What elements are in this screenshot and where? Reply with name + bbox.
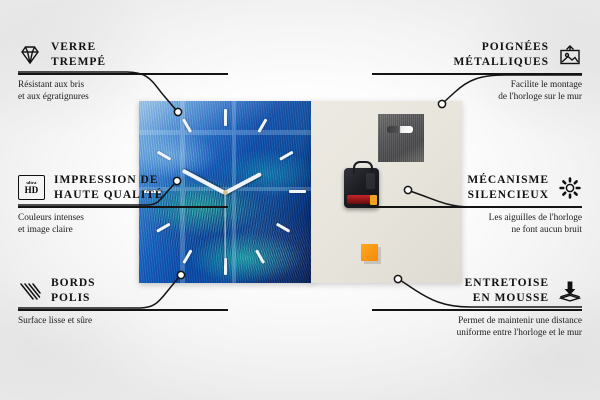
callout-desc: Surface lisse et sûre — [18, 315, 228, 327]
gear-icon — [558, 176, 582, 200]
callout-rule — [372, 73, 582, 74]
callout-desc: Permet de maintenir une distance uniform… — [372, 315, 582, 340]
hanging-loop — [353, 161, 373, 173]
callout-desc: Les aiguilles de l'horloge ne font aucun… — [372, 212, 582, 237]
callout-desc: Résistant aux bris et aux égratignures — [18, 79, 228, 104]
callout-bords-polis: BORDS POLIS Surface lisse et sûre — [18, 276, 228, 327]
callout-rule — [372, 309, 582, 310]
polished-edges-icon — [18, 279, 42, 303]
callout-rule — [372, 206, 582, 207]
diamond-icon — [18, 43, 42, 67]
callout-poignees-metalliques: POIGNÉES MÉTALLIQUES Facilite le montage… — [372, 40, 582, 104]
infographic-canvas: VERRE TREMPÉ Résistant aux bris et aux é… — [0, 0, 600, 400]
callout-desc: Facilite le montage de l'horloge sur le … — [372, 79, 582, 104]
hanger-slot — [387, 126, 413, 133]
foam-spacer-icon — [558, 279, 582, 303]
callout-title: ENTRETOISE EN MOUSSE — [465, 276, 549, 305]
callout-title: BORDS POLIS — [51, 276, 96, 305]
callout-desc: Couleurs intenses et image claire — [18, 212, 228, 237]
wall-hanger-icon — [558, 43, 582, 67]
ultra-hd-icon: ultra HD — [18, 175, 45, 200]
callout-title: MÉCANISME SILENCIEUX — [467, 173, 549, 202]
callout-rule — [18, 73, 228, 74]
callout-rule — [18, 309, 228, 310]
callout-mecanisme-silencieux: MÉCANISME SILENCIEUX Les aiguilles de l'… — [372, 173, 582, 237]
callout-entretoise-en-mousse: ENTRETOISE EN MOUSSE Permet de maintenir… — [372, 276, 582, 340]
callout-title: VERRE TREMPÉ — [51, 40, 106, 69]
callout-title: IMPRESSION DE HAUTE QUALITÉ — [54, 173, 164, 202]
callout-rule — [18, 206, 228, 207]
callout-verre-trempe: VERRE TREMPÉ Résistant aux bris et aux é… — [18, 40, 228, 104]
foam-spacer — [361, 244, 378, 261]
callout-title: POIGNÉES MÉTALLIQUES — [453, 40, 549, 69]
callout-impression-haute-qualite: ultra HD IMPRESSION DE HAUTE QUALITÉ Cou… — [18, 173, 228, 237]
metal-hanger-plate — [378, 114, 424, 162]
